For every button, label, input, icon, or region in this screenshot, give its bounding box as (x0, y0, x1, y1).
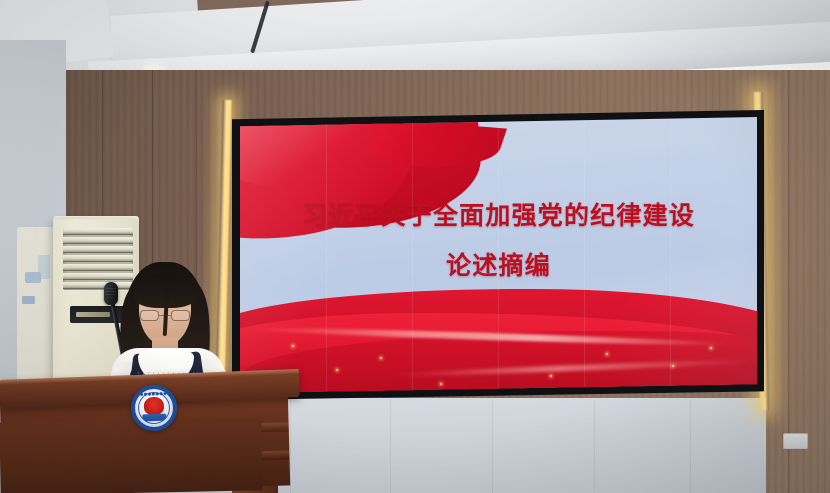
louver-blade (63, 237, 133, 244)
sparkle-particle (672, 365, 674, 367)
sparkle-particle (550, 375, 552, 377)
lower-wall-seam (492, 400, 493, 493)
lecture-hall-photo: 习近平关于全面加强党的纪律建设 论述摘编 ★ ★ ★ ● 宣讲人：陈太艳 ▬ 时… (0, 0, 830, 493)
sparkle-particle (292, 345, 294, 347)
wall-socket-plate[interactable] (783, 433, 808, 449)
emblem-book-shape (142, 414, 166, 422)
glasses-bridge (159, 315, 171, 316)
sparkle-particle (710, 347, 712, 349)
ac-side-sticker (38, 255, 50, 279)
lower-wall-seam (290, 400, 291, 493)
lower-wall-seam (594, 400, 595, 493)
led-panel-seam (326, 117, 327, 393)
louver-blade (63, 255, 133, 262)
sparkle-particle (440, 383, 442, 385)
lower-wall-seam (690, 400, 691, 493)
sparkle-particle (336, 369, 338, 371)
lower-wall-seam (390, 400, 391, 493)
eyeglasses-icon (140, 310, 190, 322)
louver-blade (63, 228, 133, 235)
glasses-left-lens (140, 310, 159, 321)
led-panel-seam (670, 117, 671, 393)
led-panel-seam (584, 117, 585, 393)
display-readout (76, 312, 110, 317)
glasses-right-lens (171, 310, 190, 321)
wood-panel-seam (788, 70, 789, 493)
sparkle-particle (606, 353, 608, 355)
led-panel-seam (412, 117, 413, 393)
ac-side-sticker (22, 296, 35, 304)
podium-front-panel (0, 417, 263, 493)
emblem-arc-text: ●●●●●●● (134, 390, 172, 396)
louver-blade (63, 246, 133, 253)
led-display-screen[interactable]: 习近平关于全面加强党的纪律建设 论述摘编 ★ ★ ★ ● 宣讲人：陈太艳 ▬ 时… (240, 117, 757, 393)
led-panel-seam (498, 117, 499, 393)
sparkle-particle (380, 357, 382, 359)
